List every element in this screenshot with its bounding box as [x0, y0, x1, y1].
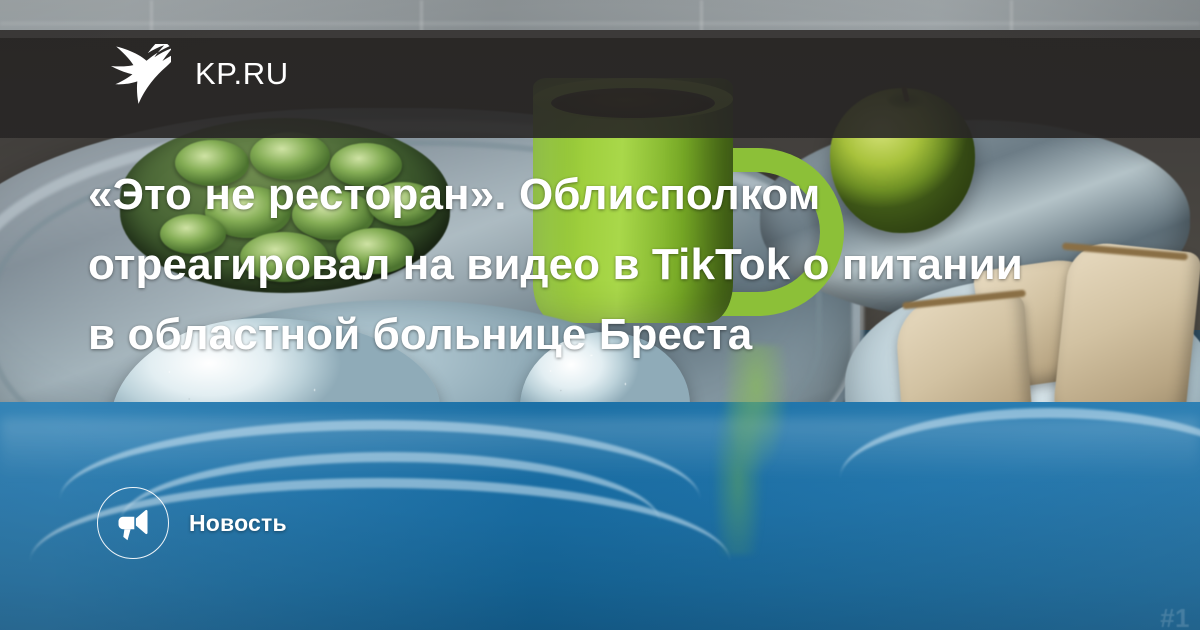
news-share-card: KP.RU «Это не ресторан». Облисполком отр…: [0, 0, 1200, 630]
status-badge[interactable]: Новость: [97, 487, 287, 559]
brand-header[interactable]: KP.RU: [105, 38, 289, 110]
page-title: «Это не ресторан». Облисполком отреагиро…: [88, 160, 1048, 370]
photo-watermark: #1: [1160, 603, 1190, 630]
brand-name: KP.RU: [195, 56, 289, 92]
status-badge-label: Новость: [189, 510, 287, 537]
plate-edge-scallop: [840, 408, 1200, 568]
swallow-bird-icon: [105, 44, 171, 104]
tile-grout-line: [0, 22, 1200, 25]
megaphone-icon: [97, 487, 169, 559]
green-reflection: [690, 345, 810, 555]
